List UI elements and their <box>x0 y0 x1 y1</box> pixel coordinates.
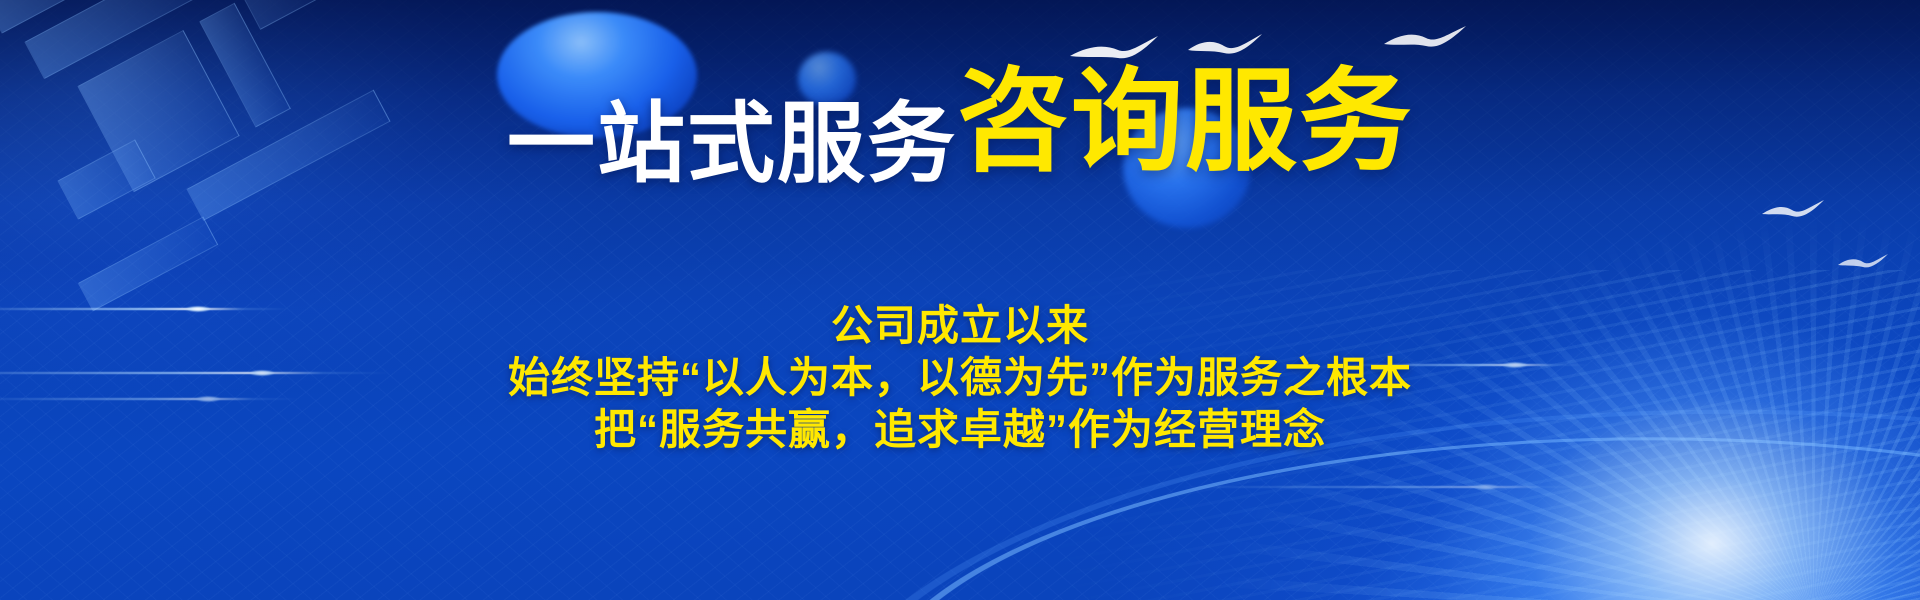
headline: 一站式服务咨询服务 <box>0 66 1920 188</box>
subtitle-line-2: 始终坚持“以人为本，以德为先”作为服务之根本 <box>0 352 1920 404</box>
subtitle-line-3: 把“服务共赢，追求卓越”作为经营理念 <box>0 404 1920 456</box>
subtitle-block: 公司成立以来 始终坚持“以人为本，以德为先”作为服务之根本 把“服务共赢，追求卓… <box>0 300 1920 456</box>
seagull-icon <box>1382 24 1468 56</box>
headline-yellow-text: 咨询服务 <box>957 59 1413 184</box>
headline-white-text: 一站式服务 <box>507 94 957 193</box>
light-streak <box>1180 486 1600 488</box>
seagull-icon <box>1760 198 1826 224</box>
subtitle-line-1: 公司成立以来 <box>0 300 1920 352</box>
seagull-icon <box>1186 32 1264 62</box>
promo-banner: 一站式服务咨询服务 公司成立以来 始终坚持“以人为本，以德为先”作为服务之根本 … <box>0 0 1920 600</box>
seagull-icon <box>1836 252 1890 274</box>
